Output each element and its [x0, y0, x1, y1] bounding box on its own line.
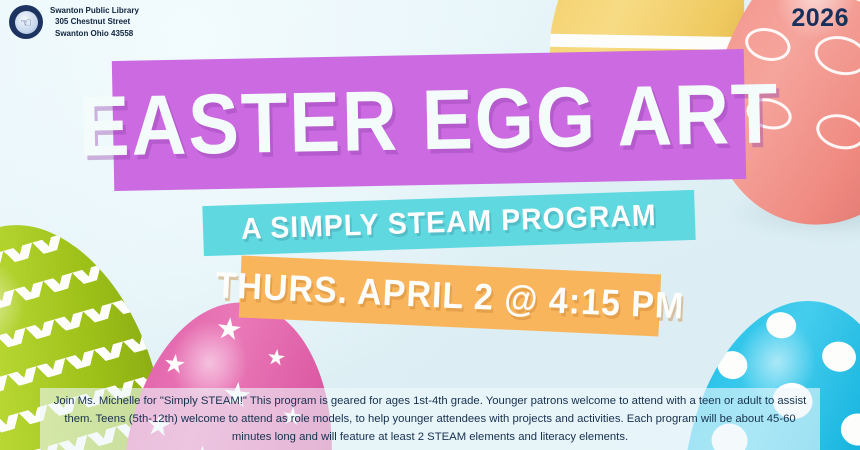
easter-egg-art-flyer: ★ ★ ★ ★ ★ ★ ★ ★ ★ ★ ★ ☜ Swanton Public L…: [0, 0, 860, 450]
title-banner: EASTER EGG ART: [112, 49, 746, 191]
library-seal-icon: ☜: [9, 5, 43, 39]
library-header: ☜ Swanton Public Library 305 Chestnut St…: [9, 5, 139, 39]
page-title: EASTER EGG ART: [78, 65, 781, 176]
subtitle-banner: A SIMPLY STEAM PROGRAM: [202, 190, 695, 256]
library-city-state-zip: Swanton Ohio 43558: [50, 28, 139, 39]
library-name: Swanton Public Library: [50, 5, 139, 16]
program-description: Join Ms. Michelle for "Simply STEAM!" Th…: [40, 388, 820, 450]
event-datetime: THURS. APRIL 2 @ 4:15 PM: [215, 264, 685, 327]
library-info: Swanton Public Library 305 Chestnut Stre…: [50, 5, 139, 39]
date-banner: THURS. APRIL 2 @ 4:15 PM: [239, 256, 661, 337]
library-address: 305 Chestnut Street: [50, 16, 139, 27]
program-subtitle: A SIMPLY STEAM PROGRAM: [241, 199, 658, 247]
year-badge: 2026: [791, 4, 849, 33]
